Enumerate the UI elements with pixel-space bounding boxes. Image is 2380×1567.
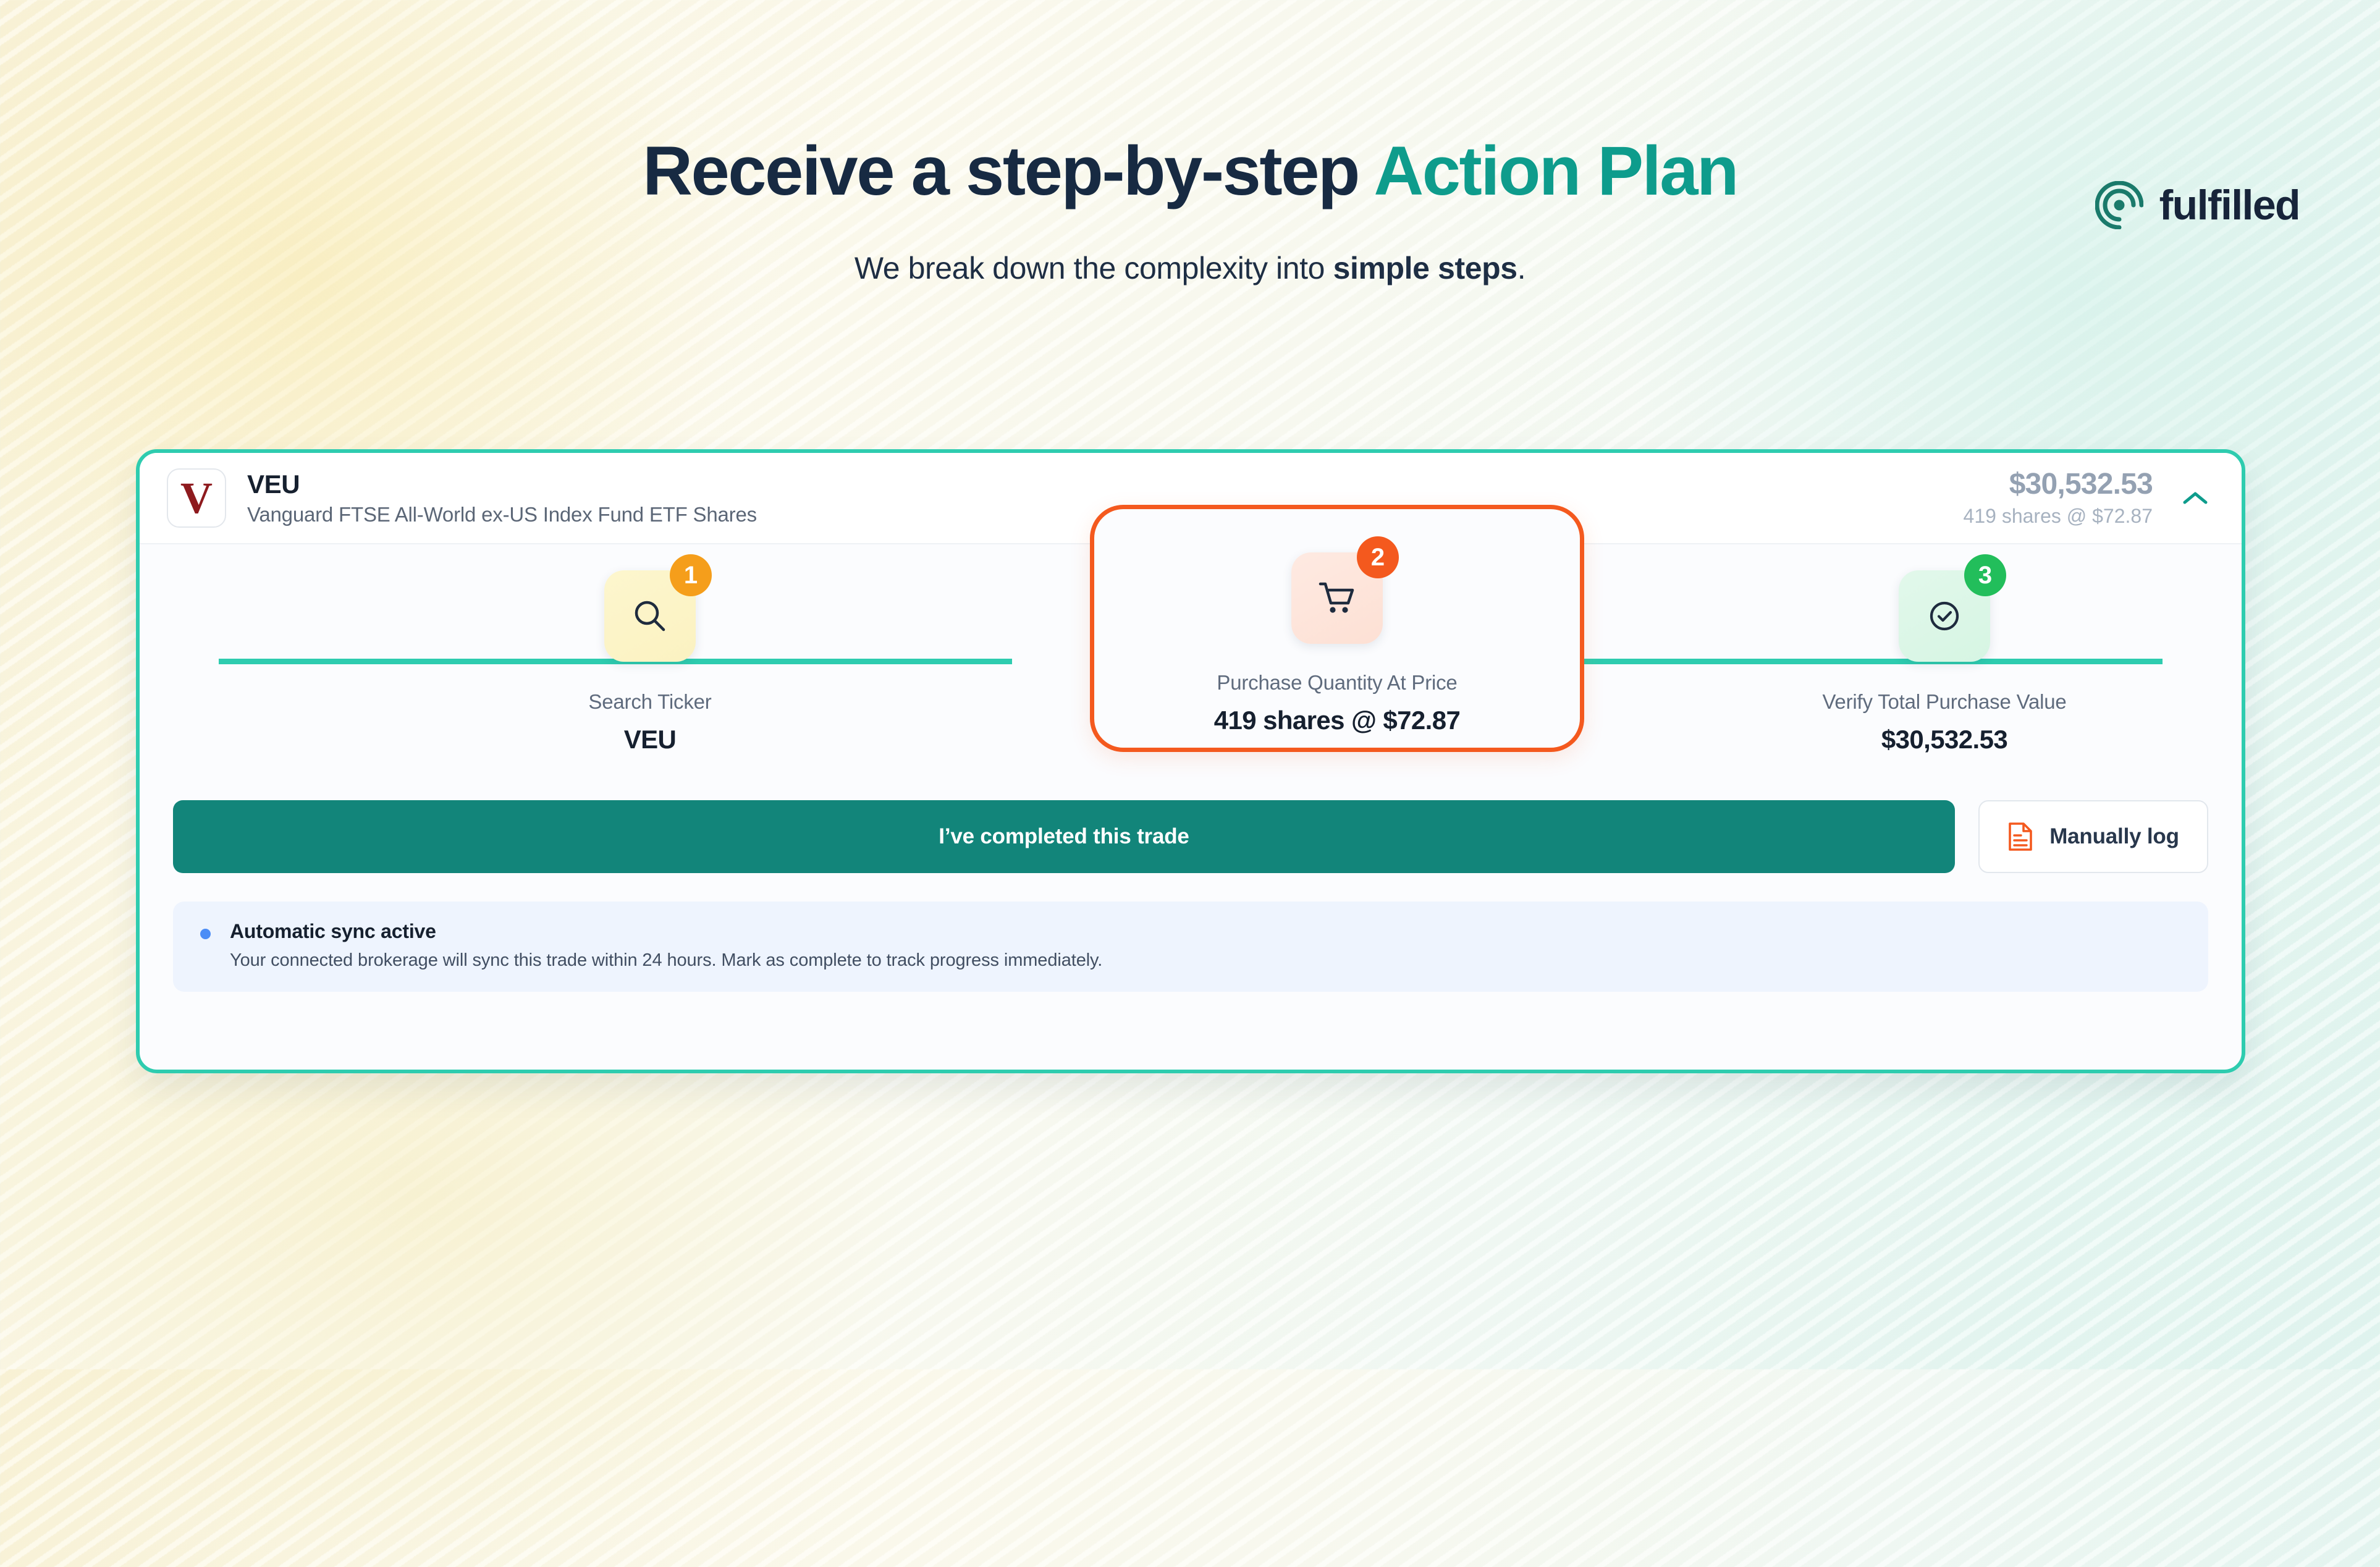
vanguard-logo-tile: V <box>167 468 226 528</box>
sync-notice-body: Your connected brokerage will sync this … <box>230 950 2181 971</box>
step-1-tile-holder: 1 <box>604 570 696 662</box>
trade-card: V VEU Vanguard FTSE All-World ex-US Inde… <box>136 449 2245 1073</box>
position-summary: $30,532.53 419 shares @ $72.87 <box>1964 468 2153 528</box>
manually-log-label: Manually log <box>2049 824 2179 849</box>
page-title: Receive a step-by-step Action Plan <box>0 135 2380 208</box>
step-1-value: VEU <box>489 725 811 754</box>
action-buttons-row: I’ve completed this trade Manually log <box>140 800 2242 873</box>
page-subtitle: We break down the complexity into simple… <box>0 250 2380 286</box>
total-value: $30,532.53 <box>1964 468 2153 501</box>
fund-name: Vanguard FTSE All-World ex-US Index Fund… <box>247 503 757 526</box>
step-purchase-quantity[interactable]: 2 Purchase Quantity At Price 419 shares … <box>1090 505 1584 752</box>
brand-logo: fulfilled <box>2095 181 2300 229</box>
step-2-badge: 2 <box>1357 536 1399 578</box>
step-search-ticker[interactable]: 1 Search Ticker VEU <box>489 544 811 754</box>
shopping-cart-icon <box>1317 579 1357 617</box>
page-title-accent: Action Plan <box>1374 132 1737 209</box>
step-3-label: Verify Total Purchase Value <box>1784 690 2105 714</box>
sync-notice: Automatic sync active Your connected bro… <box>173 902 2208 992</box>
document-lines-icon <box>2007 822 2033 851</box>
shares-summary: 419 shares @ $72.87 <box>1964 505 2153 528</box>
step-1-label: Search Ticker <box>489 690 811 714</box>
ticker-info: VEU Vanguard FTSE All-World ex-US Index … <box>247 470 757 526</box>
check-circle-icon <box>1925 597 1964 635</box>
page-wrapper: Receive a step-by-step Action Plan We br… <box>0 0 2380 286</box>
step-3-tile-holder: 3 <box>1899 570 1990 662</box>
step-verify-total[interactable]: 3 Verify Total Purchase Value $30,532.53 <box>1784 544 2105 754</box>
page-heading: Receive a step-by-step Action Plan We br… <box>0 0 2380 286</box>
step-2-tile-holder: 2 <box>1291 552 1383 644</box>
step-2-value: 419 shares @ $72.87 <box>1214 706 1461 735</box>
steps-row: 1 Search Ticker VEU 2 Purchase Quantity … <box>140 544 2242 798</box>
vanguard-v-icon: V <box>180 476 213 520</box>
step-3-badge: 3 <box>1964 554 2006 596</box>
sync-notice-title: Automatic sync active <box>230 920 2181 943</box>
page-title-main: Receive a step-by-step <box>643 132 1374 209</box>
page-subtitle-bold: simple steps <box>1333 251 1517 285</box>
ticker-symbol: VEU <box>247 470 757 499</box>
manually-log-button[interactable]: Manually log <box>1978 800 2208 873</box>
page-subtitle-end: . <box>1517 251 1526 285</box>
step-2-label: Purchase Quantity At Price <box>1217 671 1457 695</box>
step-3-value: $30,532.53 <box>1784 725 2105 754</box>
search-icon <box>631 597 669 635</box>
step-1-badge: 1 <box>670 554 712 596</box>
brand-name: fulfilled <box>2159 181 2300 229</box>
complete-trade-button[interactable]: I’ve completed this trade <box>173 800 1955 873</box>
page-subtitle-main: We break down the complexity into <box>855 251 1333 285</box>
status-dot-icon <box>200 929 211 939</box>
chevron-up-icon[interactable] <box>2181 491 2209 505</box>
spiral-target-icon <box>2095 181 2143 229</box>
